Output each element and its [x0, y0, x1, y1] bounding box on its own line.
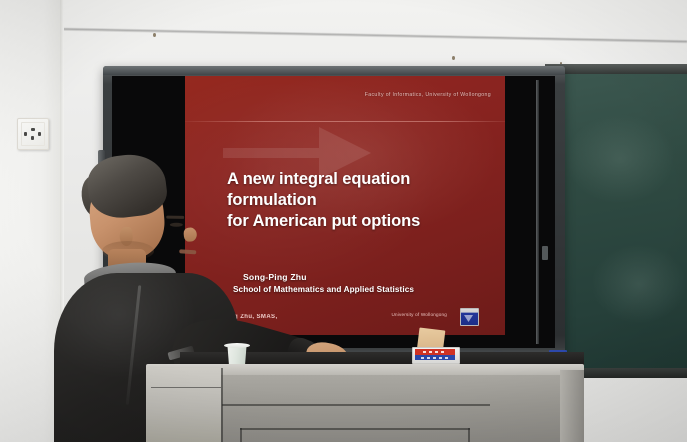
- lecture-room-photo: Faculty of Informatics, University of Wo…: [0, 0, 687, 442]
- podium-seam: [240, 428, 470, 430]
- socket-pin: [38, 132, 41, 136]
- display-side-button[interactable]: [542, 246, 548, 260]
- presenter-eye: [170, 223, 183, 227]
- socket-pin: [31, 136, 34, 140]
- wall-left-panel: [0, 0, 62, 442]
- chalk-smudge: [565, 114, 675, 204]
- socket-pin: [24, 132, 27, 136]
- wall-speck: [153, 33, 156, 37]
- slide-university-label: University of Wollongong: [391, 312, 447, 317]
- presenter-nose: [183, 227, 197, 242]
- slide-header-divider: [185, 121, 505, 122]
- display-top-bevel: [103, 66, 565, 75]
- podium-seam: [240, 428, 242, 442]
- podium-seam: [468, 428, 470, 442]
- display-right-seam: [536, 80, 539, 344]
- chalk-smudge: [591, 244, 687, 324]
- wall-speck: [452, 56, 455, 60]
- placard-blue-band: [415, 355, 455, 360]
- presenter-mouth: [179, 249, 196, 254]
- presenter-eyebrow: [166, 216, 184, 219]
- podium-right-edge: [560, 370, 584, 442]
- wall-socket-icon[interactable]: [17, 118, 49, 150]
- green-chalkboard: [551, 74, 687, 374]
- podium-seam: [221, 368, 223, 442]
- slide-header-text: Faculty of Informatics, University of Wo…: [365, 92, 491, 98]
- socket-pin: [31, 128, 35, 131]
- uow-crest-icon: [460, 308, 479, 326]
- podium-seam: [222, 404, 490, 406]
- podium-seam: [151, 387, 221, 388]
- desk-placard[interactable]: [412, 329, 458, 362]
- podium-left-panel: [146, 368, 221, 442]
- paper-cup-rim: [224, 343, 250, 348]
